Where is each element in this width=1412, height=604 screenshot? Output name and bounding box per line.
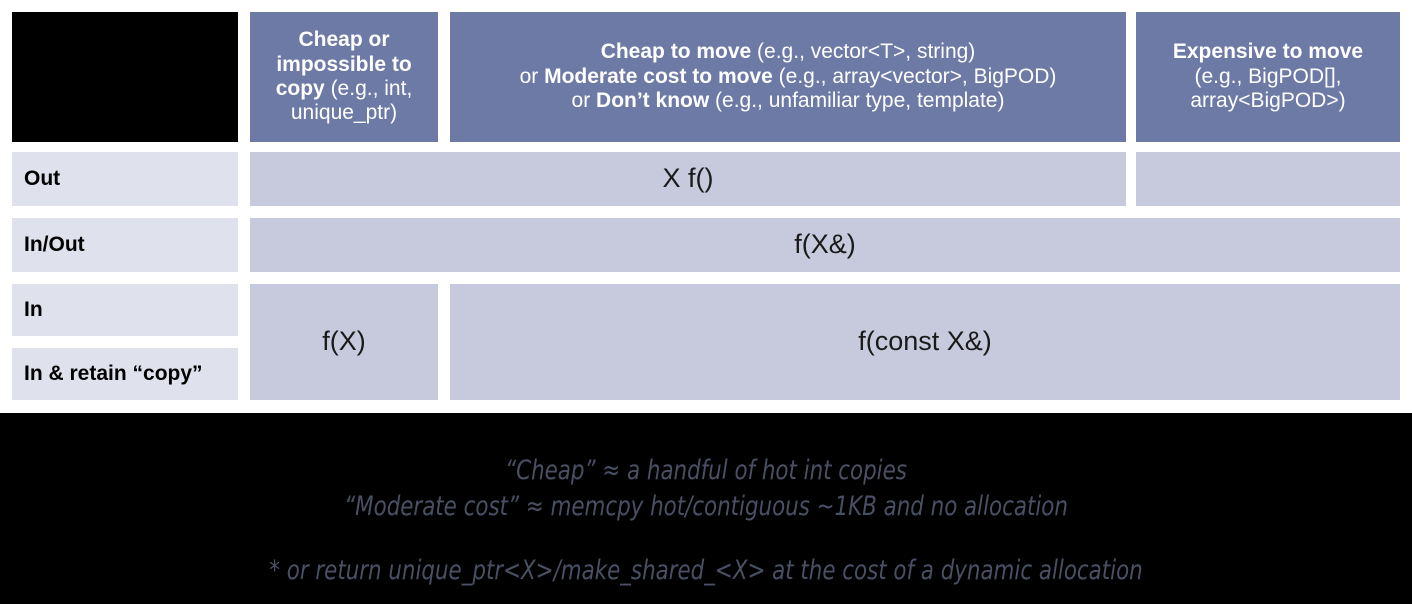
footer-note-moderate-cost: “Moderate cost” ≈ memcpy hot/contiguous … <box>85 491 1328 522</box>
footer-notes: “Cheap” ≈ a handful of hot int copies “M… <box>0 413 1412 604</box>
column-header-cheap-move: Cheap to move (e.g., vector<T>, string) … <box>450 12 1126 142</box>
footer-note-return-smart-pointer: * or return unique_ptr<X>/make_shared_<X… <box>85 555 1328 586</box>
cell-out-x-f: X f() <box>250 152 1126 206</box>
column-header-line: (e.g., BigPOD[], <box>1194 65 1341 89</box>
column-header-expensive-move: Expensive to move (e.g., BigPOD[], array… <box>1136 12 1400 142</box>
column-header-cheap-copy: Cheap or impossible to copy (e.g., int, … <box>250 12 438 142</box>
row-label-in: In <box>12 284 238 336</box>
column-header-line: Cheap or <box>298 28 389 52</box>
column-header-line: or Don’t know (e.g., unfamiliar type, te… <box>572 89 1005 113</box>
header-bold-text: Cheap or <box>298 28 389 51</box>
header-plain-text: (e.g., array<vector>, BigPOD) <box>773 65 1057 88</box>
header-bold-text: Cheap to move <box>601 40 752 63</box>
header-plain-text: (e.g., unfamiliar type, template) <box>709 89 1004 112</box>
header-plain-text: array<BigPOD>) <box>1190 89 1345 112</box>
row-label-in-out: In/Out <box>12 218 238 272</box>
table-corner-cell <box>12 12 238 142</box>
row-label-out: Out <box>12 152 238 206</box>
header-plain-text: (e.g., vector<T>, string) <box>751 40 975 63</box>
column-header-line: unique_ptr) <box>291 101 397 125</box>
column-header-line: or Moderate cost to move (e.g., array<ve… <box>520 65 1057 89</box>
header-bold-text: Moderate cost to move <box>544 65 773 88</box>
column-header-line: array<BigPOD>) <box>1190 89 1345 113</box>
header-plain-text: (e.g., BigPOD[], <box>1194 65 1341 88</box>
column-header-line: Cheap to move (e.g., vector<T>, string) <box>601 40 976 64</box>
header-plain-text: or <box>572 89 597 112</box>
column-header-line: impossible to <box>276 53 411 77</box>
header-plain-text: or <box>520 65 545 88</box>
cell-in-f-const-xref: f(const X&) <box>450 284 1400 400</box>
header-bold-text: copy <box>276 77 325 100</box>
header-plain-text: unique_ptr) <box>291 101 397 124</box>
header-bold-text: impossible to <box>276 53 411 76</box>
cell-in-out-f-xref: f(X&) <box>250 218 1400 272</box>
slide-root: Cheap or impossible to copy (e.g., int, … <box>0 0 1412 604</box>
cell-out-expensive-empty <box>1136 152 1400 206</box>
header-plain-text: (e.g., int, <box>325 77 413 100</box>
cell-in-f-x: f(X) <box>250 284 438 400</box>
header-bold-text: Expensive to move <box>1173 40 1363 63</box>
footer-note-cheap: “Cheap” ≈ a handful of hot int copies <box>85 455 1328 486</box>
column-header-line: Expensive to move <box>1173 40 1363 64</box>
column-header-line: copy (e.g., int, <box>276 77 413 101</box>
header-bold-text: Don’t know <box>596 89 709 112</box>
parameter-passing-table: Cheap or impossible to copy (e.g., int, … <box>0 0 1412 413</box>
row-label-in-retain-copy: In & retain “copy” <box>12 348 238 400</box>
